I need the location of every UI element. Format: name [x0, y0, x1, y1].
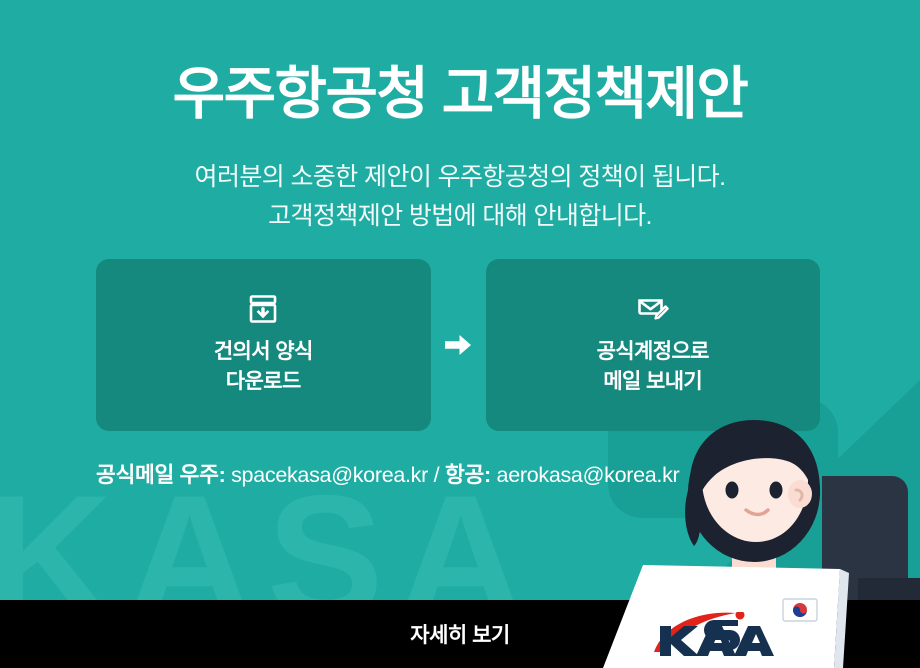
- official-email-space-colon: :: [219, 463, 232, 487]
- official-email-aero-colon: :: [484, 463, 497, 487]
- kasa-policy-proposal-banner: KASA 우주항공청 고객정책제안 여러분의 소중한 제안이 우주항공청의 정책…: [0, 0, 920, 668]
- step-card-download-label: 건의서 양식 다운로드: [214, 337, 313, 398]
- step-card-download[interactable]: 건의서 양식 다운로드: [96, 259, 431, 431]
- steps-container: 건의서 양식 다운로드 공식계정으로 메일 보내기: [96, 259, 820, 431]
- download-box-icon: [247, 293, 279, 325]
- step-card-send-mail-label-line-1: 공식계정으로: [597, 337, 709, 367]
- step-card-send-mail[interactable]: 공식계정으로 메일 보내기: [486, 259, 821, 431]
- official-email-space-label: 공식메일 우주: [96, 463, 219, 487]
- step-card-download-label-line-1: 건의서 양식: [214, 337, 313, 367]
- mail-compose-icon: [636, 293, 670, 325]
- official-email-divider: /: [428, 463, 445, 487]
- step-card-send-mail-label: 공식계정으로 메일 보내기: [597, 337, 709, 398]
- step-card-send-mail-label-line-2: 메일 보내기: [597, 367, 709, 397]
- subtitle-line-1: 여러분의 소중한 제안이 우주항공청의 정책이 됩니다.: [0, 158, 920, 197]
- footer-bar[interactable]: 자세히 보기: [0, 600, 920, 668]
- more-details-label: 자세히 보기: [410, 619, 509, 649]
- official-email-aero-label: 항공: [445, 463, 484, 487]
- kasa-logo: [648, 612, 774, 656]
- step-card-download-label-line-2: 다운로드: [214, 367, 313, 397]
- subtitle-line-2: 고객정책제안 방법에 대해 안내합니다.: [0, 197, 920, 236]
- official-email-space-address[interactable]: spacekasa@korea.kr: [231, 463, 428, 487]
- page-title: 우주항공청 고객정책제안: [0, 62, 920, 128]
- official-email-aero-address[interactable]: aerokasa@korea.kr: [497, 463, 680, 487]
- page-subtitle: 여러분의 소중한 제안이 우주항공청의 정책이 됩니다. 고객정책제안 방법에 …: [0, 158, 920, 236]
- official-email-line: 공식메일 우주: spacekasa@korea.kr / 항공: aeroka…: [96, 458, 679, 489]
- arrow-right-icon: [431, 259, 486, 431]
